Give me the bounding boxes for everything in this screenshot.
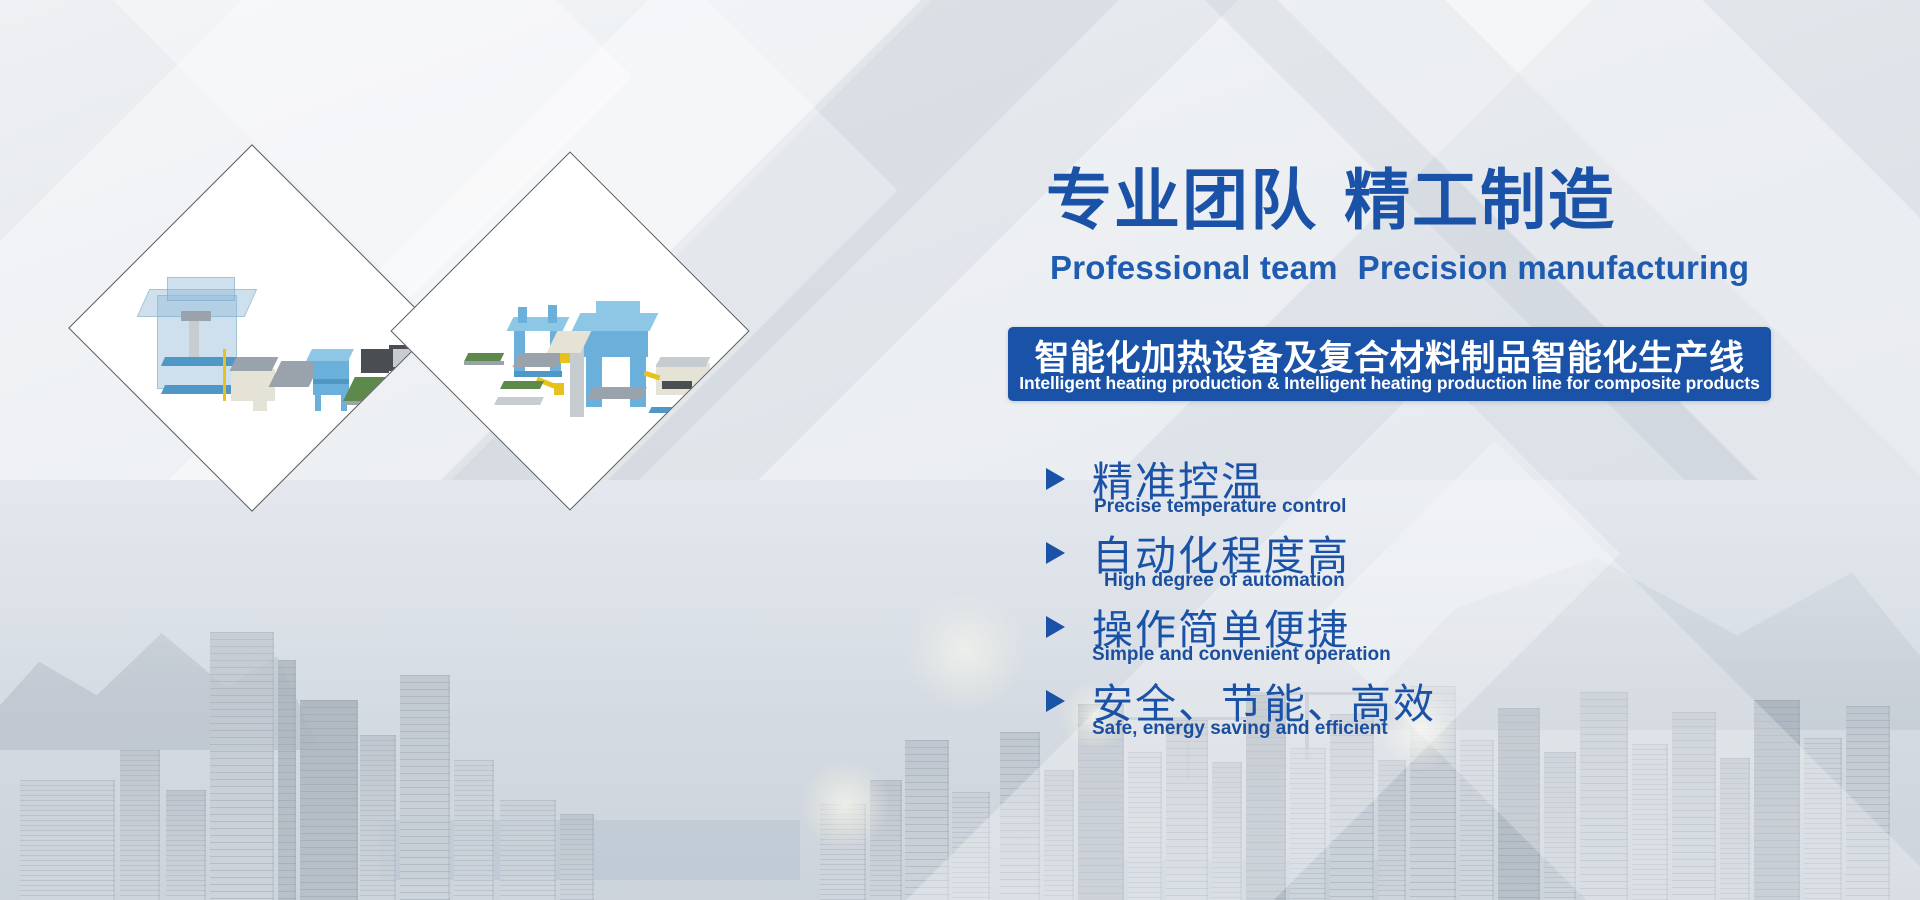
blue-press-leg (315, 395, 321, 411)
small-press-column (518, 307, 527, 323)
main-press-leg (630, 357, 646, 407)
transfer-conveyor (500, 381, 544, 389)
press-crown (167, 277, 235, 301)
feature-item: 操作简单便捷 Simple and convenient operation (1046, 600, 1686, 674)
small-press-column (548, 305, 557, 323)
headline-en-part1: Professional team (1050, 249, 1338, 286)
dark-machine-unit (361, 349, 389, 373)
feed-conveyor-frame (464, 361, 504, 365)
feature-label-en: High degree of automation (1104, 570, 1345, 592)
blue-press-shelf (313, 379, 349, 384)
finishing-machine-panel (662, 381, 692, 389)
triangle-right-icon (1046, 690, 1065, 712)
feature-item: 自动化程度高 High degree of automation (1046, 526, 1686, 600)
main-press-leg (586, 357, 602, 407)
robot-arm-base (554, 383, 564, 395)
control-cabinet (253, 389, 267, 411)
promo-banner: 专业团队精工制造 Professional teamPrecision manu… (0, 0, 1920, 900)
small-press-leg (514, 327, 525, 375)
safety-rail (223, 349, 226, 401)
press-cylinder (197, 311, 211, 321)
feature-item: 安全、节能、高效 Safe, energy saving and efficie… (1046, 674, 1686, 748)
press-ram (189, 321, 199, 357)
feature-label-en: Safe, energy saving and efficient (1092, 718, 1388, 740)
page-subtitle: Professional teamPrecision manufacturing (1050, 249, 1749, 287)
press-cylinder (181, 311, 197, 321)
main-press-body (582, 327, 648, 357)
small-press-bed (513, 353, 564, 367)
headline-cn-part2: 精工制造 (1344, 163, 1616, 237)
triangle-right-icon (1046, 616, 1065, 638)
diamond-2-content (444, 205, 696, 457)
triangle-right-icon (1046, 542, 1065, 564)
main-press-crown (596, 301, 640, 319)
feature-label-en: Precise temperature control (1094, 496, 1346, 518)
triangle-right-icon (1046, 468, 1065, 490)
headline-en-part2: Precision manufacturing (1358, 249, 1750, 286)
feature-label-en: Simple and convenient operation (1092, 644, 1391, 666)
page-title: 专业团队精工制造 (1046, 166, 1616, 236)
oven-hood (230, 357, 279, 371)
feature-item: 精准控温 Precise temperature control (1046, 452, 1686, 526)
headline-cn-part1: 专业团队 (1046, 163, 1318, 237)
main-press-bed (587, 387, 647, 399)
highlight-bar-title-en: Intelligent heating production & Intelli… (1008, 373, 1771, 394)
blue-press-module (313, 357, 349, 395)
blue-press-top (306, 349, 354, 361)
highlight-banner-bar: 智能化加热设备及复合材料制品智能化生产线 Intelligent heating… (1008, 327, 1771, 401)
feature-list: 精准控温 Precise temperature control 自动化程度高 … (1046, 452, 1686, 748)
small-press-crown (507, 317, 570, 331)
transfer-table (494, 397, 544, 405)
finishing-machine-roller (656, 357, 711, 367)
diamond-1-content (123, 199, 381, 457)
